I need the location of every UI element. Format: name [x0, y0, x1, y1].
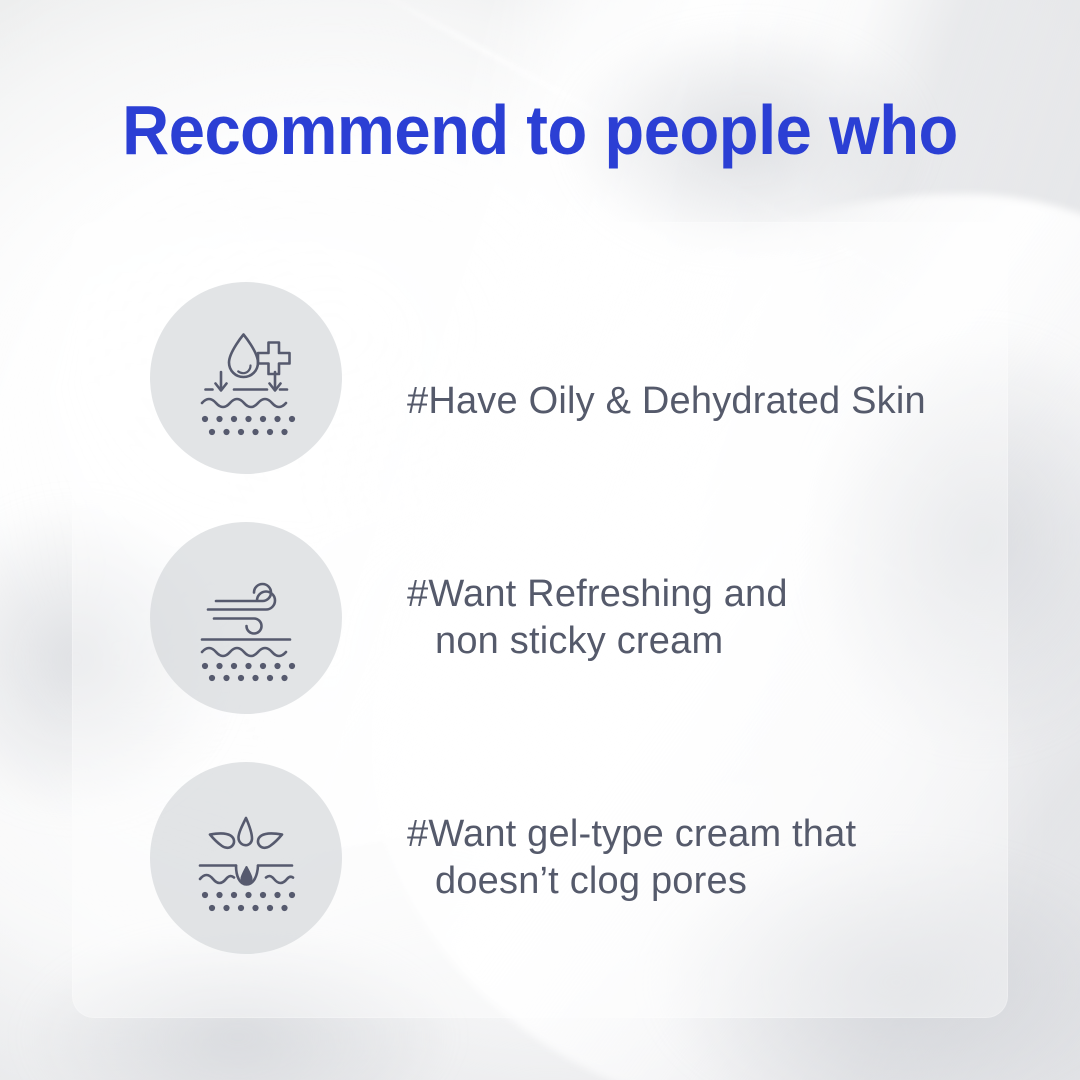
benefit-row-3: #Want gel-type cream that doesn’t clog p…	[150, 762, 856, 954]
benefit-label-3-line1: #Want gel-type cream that	[407, 813, 856, 855]
benefit-label-2-line1: #Want Refreshing and	[407, 573, 788, 615]
page-title: Recommend to people who	[38, 88, 1042, 172]
benefit-row-2: #Want Refreshing and non sticky cream	[150, 522, 788, 714]
benefit-label-1-line1: #Have Oily & Dehydrated Skin	[407, 380, 926, 422]
benefit-label-3: #Want gel-type cream that doesn’t clog p…	[407, 764, 856, 952]
benefit-label-1: #Have Oily & Dehydrated Skin	[407, 331, 926, 425]
benefit-row-1: #Have Oily & Dehydrated Skin	[150, 282, 926, 474]
benefit-label-2: #Want Refreshing and non sticky cream	[407, 524, 788, 712]
icon-circle-1	[150, 282, 342, 474]
infographic-canvas: Recommend to people who	[0, 0, 1080, 1080]
droplet-plus-skin-absorb-icon	[180, 312, 312, 444]
icon-circle-3	[150, 762, 342, 954]
benefits-card: #Have Oily & Dehydrated Skin	[72, 222, 1008, 1018]
icon-circle-2	[150, 522, 342, 714]
pore-droplet-splash-icon	[180, 792, 312, 924]
wind-breeze-skin-icon	[180, 552, 312, 684]
benefit-label-2-line2: non sticky cream	[407, 618, 788, 665]
benefit-label-3-line2: doesn’t clog pores	[407, 858, 856, 905]
